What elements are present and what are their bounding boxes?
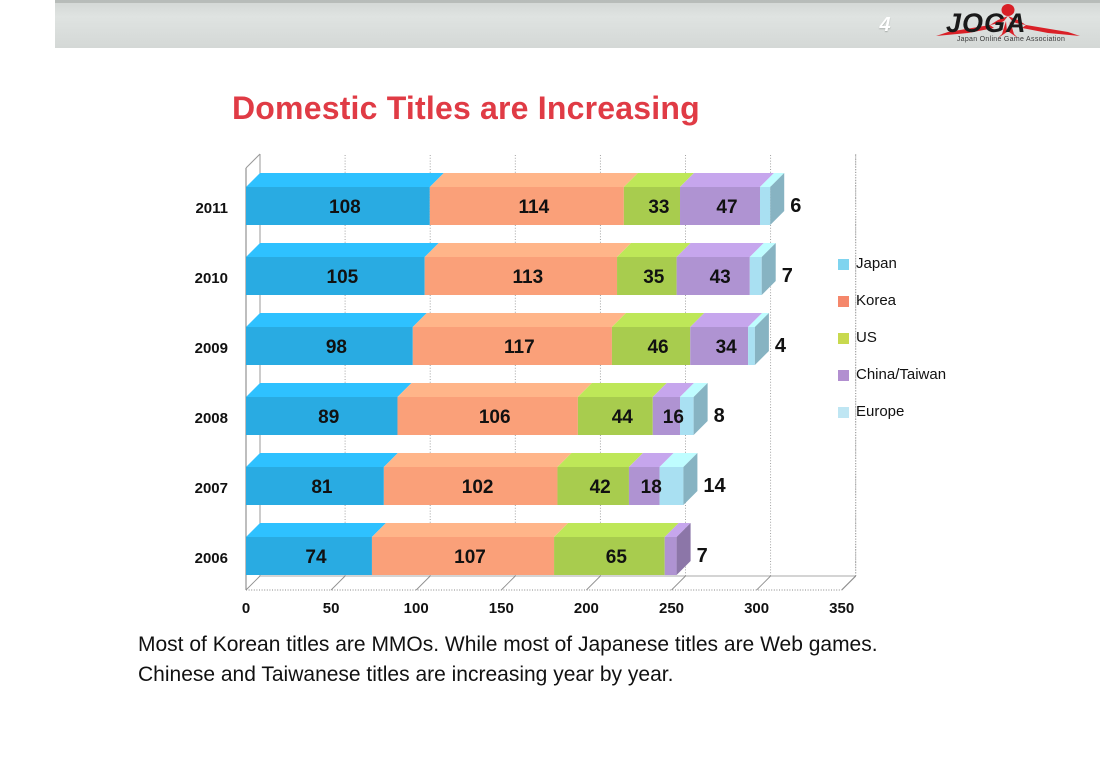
chart-legend: JapanKoreaUSChina/TaiwanEurope	[838, 255, 1038, 440]
bar-value-2007-china-taiwan: 18	[606, 478, 697, 497]
page-number: 4	[870, 12, 900, 38]
legend-item-europe[interactable]: Europe	[838, 403, 1038, 440]
y-axis-label-2007: 2007	[166, 480, 228, 497]
legend-label: Japan	[856, 255, 897, 272]
legend-item-korea[interactable]: Korea	[838, 292, 1038, 329]
bar-value-2011-china-taiwan: 47	[657, 198, 797, 217]
logo-subtitle: Japan Online Game Association	[936, 36, 1086, 43]
x-axis-tick-300: 300	[732, 600, 782, 617]
slide-root: 4 JOGA Japan Online Game Association Dom…	[0, 0, 1100, 777]
legend-swatch-icon	[838, 296, 849, 307]
bar-value-2008-china-taiwan: 16	[630, 408, 717, 427]
legend-swatch-icon	[838, 259, 849, 270]
bar-value-2006-china-taiwan: 7	[697, 546, 743, 566]
legend-label: US	[856, 329, 877, 346]
page-title: Domestic Titles are Increasing	[232, 90, 852, 127]
legend-label: Europe	[856, 403, 904, 420]
bar-value-2008-europe: 8	[714, 406, 760, 426]
legend-swatch-icon	[838, 333, 849, 344]
y-axis-label-2008: 2008	[166, 410, 228, 427]
legend-swatch-icon	[838, 370, 849, 381]
y-axis-label-2006: 2006	[166, 550, 228, 567]
x-axis-tick-150: 150	[476, 600, 526, 617]
x-axis-tick-250: 250	[647, 600, 697, 617]
x-axis-tick-350: 350	[817, 600, 867, 617]
bar-value-2010-europe: 7	[782, 266, 828, 286]
bar-value-2007-europe: 14	[703, 476, 749, 496]
bar-value-2010-china-taiwan: 43	[654, 268, 787, 287]
stacked-bar-chart: 201120102009200820072006 050100150200250…	[0, 130, 900, 620]
bar-value-2009-china-taiwan: 34	[667, 338, 785, 357]
legend-label: Korea	[856, 292, 896, 309]
y-axis-label-2011: 2011	[166, 200, 228, 217]
legend-label: China/Taiwan	[856, 366, 946, 383]
legend-item-us[interactable]: US	[838, 329, 1038, 366]
y-axis-label-2009: 2009	[166, 340, 228, 357]
bar-value-2009-europe: 4	[775, 336, 821, 356]
legend-item-japan[interactable]: Japan	[838, 255, 1038, 292]
bar-value-2011-europe: 6	[790, 196, 836, 216]
joga-logo: JOGA Japan Online Game Association	[928, 4, 1088, 48]
slide-caption: Most of Korean titles are MMOs. While mo…	[138, 630, 928, 691]
bar-value-2006-us: 65	[531, 548, 702, 567]
x-axis-tick-100: 100	[391, 600, 441, 617]
legend-item-china-taiwan[interactable]: China/Taiwan	[838, 366, 1038, 403]
y-axis-label-2010: 2010	[166, 270, 228, 287]
x-axis-tick-200: 200	[561, 600, 611, 617]
x-axis-tick-0: 0	[221, 600, 271, 617]
logo-wordmark: JOGA	[946, 8, 1027, 39]
x-axis-tick-50: 50	[306, 600, 356, 617]
legend-swatch-icon	[838, 407, 849, 418]
